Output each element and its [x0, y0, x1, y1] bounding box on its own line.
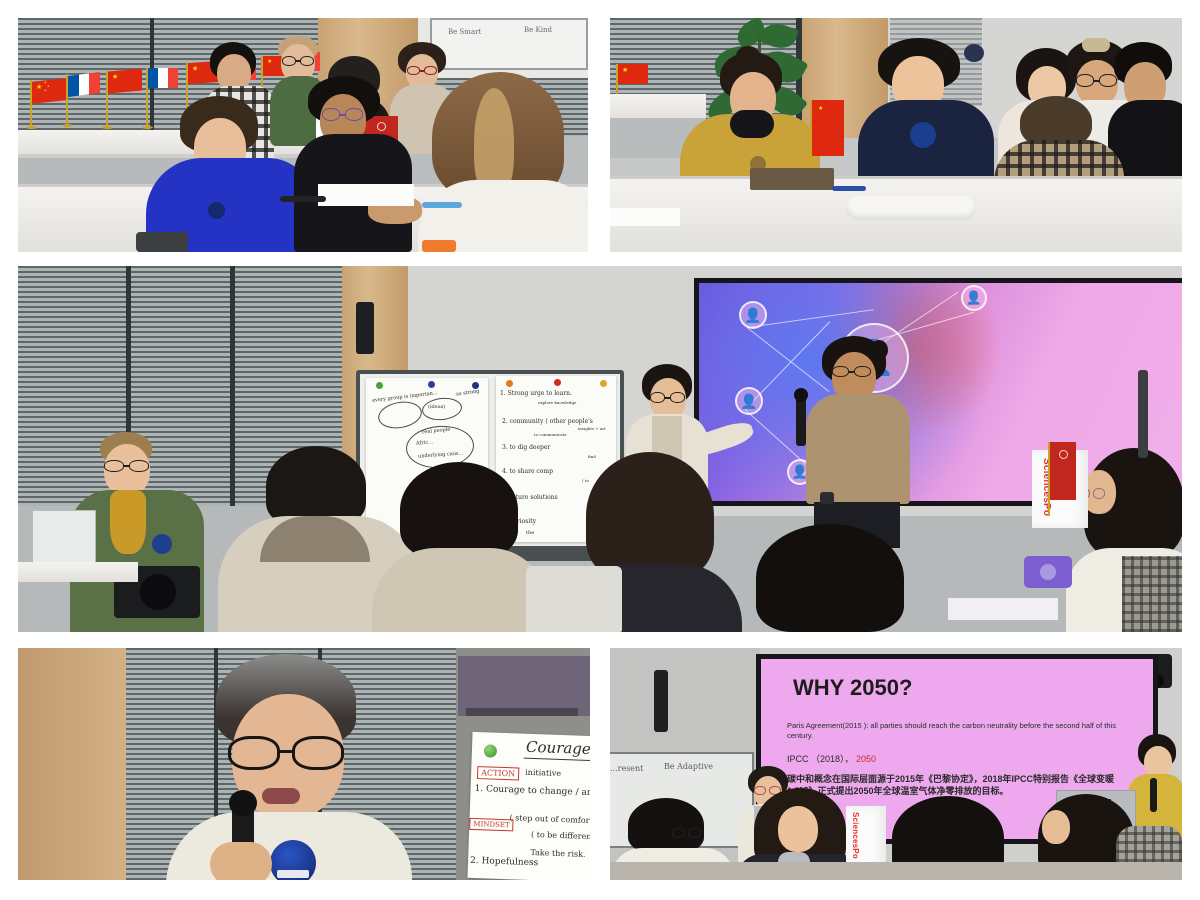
person-speaker-with-microphone: [166, 654, 412, 880]
magnet-blue: [428, 381, 435, 388]
event-badge-speaker: [270, 840, 316, 880]
checked-vest: [1122, 556, 1182, 632]
laptop: [32, 510, 96, 566]
courage-line-comfort: ( step out of comfort: [509, 813, 590, 825]
slide-bullet-2-prefix: IPCC （2018），: [787, 754, 856, 764]
purple-pouch: [1024, 556, 1072, 588]
ceiling-speaker: [356, 302, 374, 354]
smartphone: [136, 232, 188, 252]
whiteboard-note-resent: ...resent: [610, 764, 643, 773]
sciencespo-tote-bag-bottom: SciencesPo: [846, 806, 886, 868]
photo-middle-wide[interactable]: every group is importan... so strong (id…: [18, 266, 1182, 632]
marker-pen: [280, 196, 326, 202]
chair: [526, 566, 622, 632]
flipchart-heading-courage: Courage: [526, 738, 590, 758]
event-badge: [208, 202, 225, 219]
slide-title: WHY 2050?: [793, 675, 912, 701]
person-long-hair-foreground: [418, 72, 588, 252]
person-icon: 👤: [740, 393, 757, 410]
photo-bottom-left[interactable]: Courage ACTION initiative 1. Courage to …: [18, 648, 590, 880]
courage-line-1: 1. Courage to change / and to: [474, 784, 590, 799]
rolled-flipchart-paper: [846, 196, 976, 220]
person-audience-dark-hair-right: [730, 524, 930, 632]
paper-stack: [610, 208, 680, 226]
whiteboard-note-be-kind: Be Kind: [524, 26, 552, 34]
network-node-1: 👤: [739, 301, 767, 329]
wristwatch: [820, 492, 834, 504]
microphone-right: [1150, 778, 1157, 812]
event-badge-green: [152, 534, 172, 554]
person-icon: 👤: [966, 290, 982, 306]
learn-line-2: explore knowledge: [538, 400, 576, 405]
learn-line-3: 2. community ( other people's: [502, 418, 593, 425]
flipchart-label-action: ACTION: [477, 766, 519, 780]
person-audience-dark-hair-left: [372, 462, 548, 632]
learn-line-1: 1. Strong urge to learn.: [500, 390, 572, 397]
av-column-right: [1138, 370, 1148, 458]
courage-line-2: 2. Hopefulness: [470, 856, 538, 868]
learn-line-4: insights + art: [578, 426, 606, 431]
note-line-2: so strong: [456, 388, 480, 397]
whiteboard-note-be-adaptive: Be Adaptive: [664, 762, 713, 771]
learn-line-5: to communicate: [534, 432, 567, 437]
table-papers-right: [948, 598, 1058, 620]
blue-pen: [832, 186, 866, 191]
courage-line-different: ( to be different: [531, 830, 590, 841]
eyeglasses: [228, 736, 346, 770]
paper-sheet: [318, 184, 414, 206]
magnet-green-courage: [484, 744, 497, 757]
person-icon: 👤: [744, 307, 761, 324]
ceiling-speaker-right: [654, 670, 668, 732]
slide-bullet-2: IPCC （2018）， 2050: [787, 753, 1127, 765]
magnet-green: [376, 382, 383, 389]
magnet-red: [554, 379, 561, 386]
note-line-3: (ideas): [428, 404, 445, 410]
slide-bullet-2-accent: 2050: [856, 754, 876, 764]
flipchart-label-mindset: MINDSET: [469, 818, 514, 832]
network-node-2: 👤: [735, 387, 763, 415]
blue-marker: [422, 202, 462, 208]
photo-collage: Be Smart Be Kind ★ ★ ★ ★: [0, 0, 1200, 900]
sciencespo-logo-text-bottom: SciencesPo: [851, 812, 860, 859]
person-student-black-jacket: [294, 76, 412, 252]
flipchart-courage: Courage ACTION initiative 1. Courage to …: [467, 732, 590, 880]
person-student-speaking-mic: [806, 336, 910, 548]
person-student-blue-sweater: [146, 96, 314, 252]
event-badge-navy: [910, 122, 936, 148]
slide-bullet-1: Paris Agreement(2015 ): all parties shou…: [787, 721, 1127, 741]
photo-bottom-right[interactable]: ...resent Be Adaptive WHY 2050? Paris Ag…: [610, 648, 1182, 880]
whiteboard-note-be-smart: Be Smart: [448, 28, 481, 36]
magnet-amber: [600, 380, 607, 387]
hand-holding-microphone: [210, 842, 272, 880]
microphone: [796, 396, 806, 446]
network-node-4: 👤: [961, 285, 987, 311]
courage-line-risk: Take the risk.: [530, 848, 585, 859]
photo-top-right[interactable]: ★: [610, 18, 1182, 252]
magnet-orange: [506, 380, 513, 387]
learn-line-6: 3. to dig deeper: [502, 444, 550, 451]
notebook: [750, 168, 834, 190]
photo-top-left[interactable]: Be Smart Be Kind ★ ★ ★ ★: [18, 18, 588, 252]
courage-line-initiative: initiative: [525, 768, 561, 778]
orange-marker: [422, 240, 456, 252]
